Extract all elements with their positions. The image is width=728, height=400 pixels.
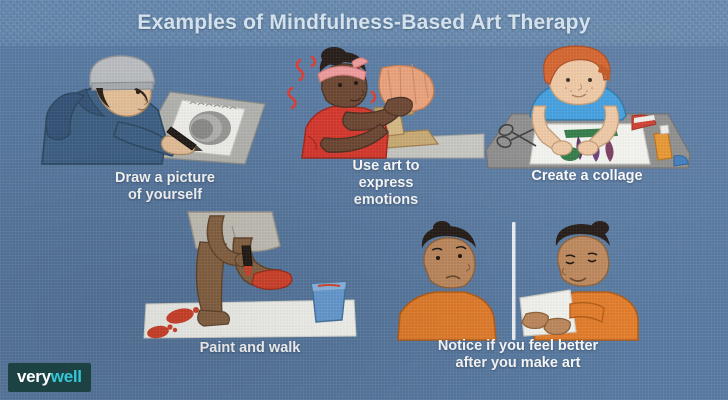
painted-foot	[252, 270, 292, 289]
caption-line: Paint and walk	[140, 340, 360, 357]
logo-text-well: well	[51, 367, 82, 386]
infographic-canvas: Examples of Mindfulness-Based Art Therap…	[0, 0, 728, 400]
verywell-logo[interactable]: verywell	[8, 363, 91, 392]
drawn-portrait	[189, 111, 231, 145]
caption-line: express	[288, 175, 484, 192]
hair-bun	[591, 221, 609, 235]
hand	[544, 318, 570, 334]
logo-text-very: very	[17, 367, 51, 386]
caption-draw-self-portrait: Draw a picture of yourself	[40, 170, 290, 204]
caption-express-emotions: Use art to express emotions	[288, 158, 484, 209]
caption-line: of yourself	[40, 187, 290, 204]
eye	[458, 254, 462, 258]
head-shape	[318, 47, 368, 107]
eye	[338, 83, 342, 87]
hair-bun	[433, 221, 451, 235]
caption-line: emotions	[288, 192, 484, 209]
caption-line: Create a collage	[482, 168, 692, 185]
caption-line: Notice if you feel better	[398, 338, 638, 355]
eye	[436, 256, 440, 260]
page-title: Examples of Mindfulness-Based Art Therap…	[0, 0, 728, 46]
illustration-person-drawing	[40, 52, 290, 170]
caption-line: Use art to	[288, 158, 484, 175]
caption-notice-feelings: Notice if you feel better after you make…	[398, 338, 638, 372]
caption-create-collage: Create a collage	[482, 168, 692, 185]
eye	[566, 78, 570, 82]
hair-bun	[321, 47, 347, 65]
eye	[588, 78, 592, 82]
illustration-woman-sculpting-clay	[288, 50, 484, 158]
illustration-legs-painting-foot	[140, 212, 360, 340]
example-card-notice-feelings: Notice if you feel better after you make…	[398, 222, 638, 372]
example-card-express-emotions: Use art to express emotions	[288, 50, 484, 210]
hand	[578, 141, 598, 155]
illustration-child-making-collage	[482, 50, 692, 168]
example-card-paint-and-walk: Paint and walk	[140, 212, 360, 362]
after-panel-happy-person	[520, 221, 638, 340]
eye	[136, 90, 140, 94]
example-card-create-collage: Create a collage	[482, 50, 692, 200]
hand	[552, 141, 572, 155]
eye	[354, 81, 358, 85]
panel-divider	[512, 222, 516, 340]
caption-paint-and-walk: Paint and walk	[140, 340, 360, 357]
before-panel-sad-person	[398, 221, 496, 340]
example-card-draw-self-portrait: Draw a picture of yourself	[40, 52, 290, 202]
caption-line: after you make art	[398, 355, 638, 372]
water-cup	[312, 282, 346, 322]
paintbrush	[242, 246, 252, 266]
illustration-before-after-feelings	[398, 222, 638, 340]
caption-line: Draw a picture	[40, 170, 290, 187]
